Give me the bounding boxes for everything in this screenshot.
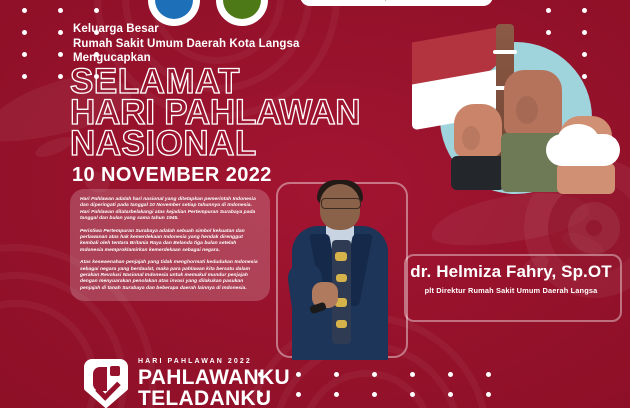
body-paragraph-1: Hari Pahlawan adalah hari nasional yang …: [80, 197, 260, 223]
raised-fists-illustration: [418, 28, 618, 206]
signatory-name: dr. Helmiza Fahry, Sp.OT: [404, 262, 618, 282]
campaign-brand-lockup: HARI PAHLAWAN 2022 PAHLAWANKU TELADANKU: [84, 358, 290, 408]
date-text: 10 NOVEMBER 2022: [72, 164, 272, 186]
body-paragraph-3: Atas kesewenahan penjajah yang tidak men…: [80, 260, 260, 292]
brand-line-2: TELADANKU: [138, 388, 290, 408]
director-portrait: [286, 178, 394, 360]
body-text-panel: Hari Pahlawan adalah hari nasional yang …: [70, 189, 270, 301]
greeting-block: Keluarga Besar Rumah Sakit Umum Daerah K…: [73, 22, 403, 66]
pahlawanku-shield-icon: [84, 359, 128, 408]
date-block: 10 NOVEMBER 2022: [72, 164, 272, 187]
concentric-ring-icon: [300, 370, 434, 408]
headline-line-3: NASIONAL: [70, 128, 430, 159]
greeting-line-1: Keluarga Besar: [73, 22, 403, 37]
body-paragraph-2: Peristiwa Pertempuran Surabaya adalah se…: [80, 229, 260, 255]
dot-grid-bottom: [258, 372, 524, 408]
address-pill: Provinsi Aceh, Kode Pos : 24416: [300, 0, 493, 6]
cloud-icon: [558, 124, 598, 152]
address-text: Provinsi Aceh, Kode Pos : 24416: [312, 0, 481, 2]
brand-text: HARI PAHLAWAN 2022 PAHLAWANKU TELADANKU: [138, 358, 290, 408]
greeting-line-2: Rumah Sakit Umum Daerah Kota Langsa: [73, 37, 403, 52]
fist-icon: [454, 104, 502, 190]
fist-icon: [504, 70, 562, 192]
header-strip: Provinsi Aceh, Kode Pos : 24416: [0, 0, 630, 16]
poster-canvas: Provinsi Aceh, Kode Pos : 24416 Keluarga…: [0, 0, 630, 408]
brand-line-1: PAHLAWANKU: [138, 367, 290, 388]
map-silhouette: [33, 133, 75, 161]
brand-kicker: HARI PAHLAWAN 2022: [138, 358, 290, 365]
headline-block: SELAMAT HARI PAHLAWAN NASIONAL: [70, 66, 430, 159]
signatory-role: plt Direktur Rumah Sakit Umum Daerah Lan…: [404, 286, 618, 295]
signature-block: dr. Helmiza Fahry, Sp.OT plt Direktur Ru…: [404, 262, 618, 295]
